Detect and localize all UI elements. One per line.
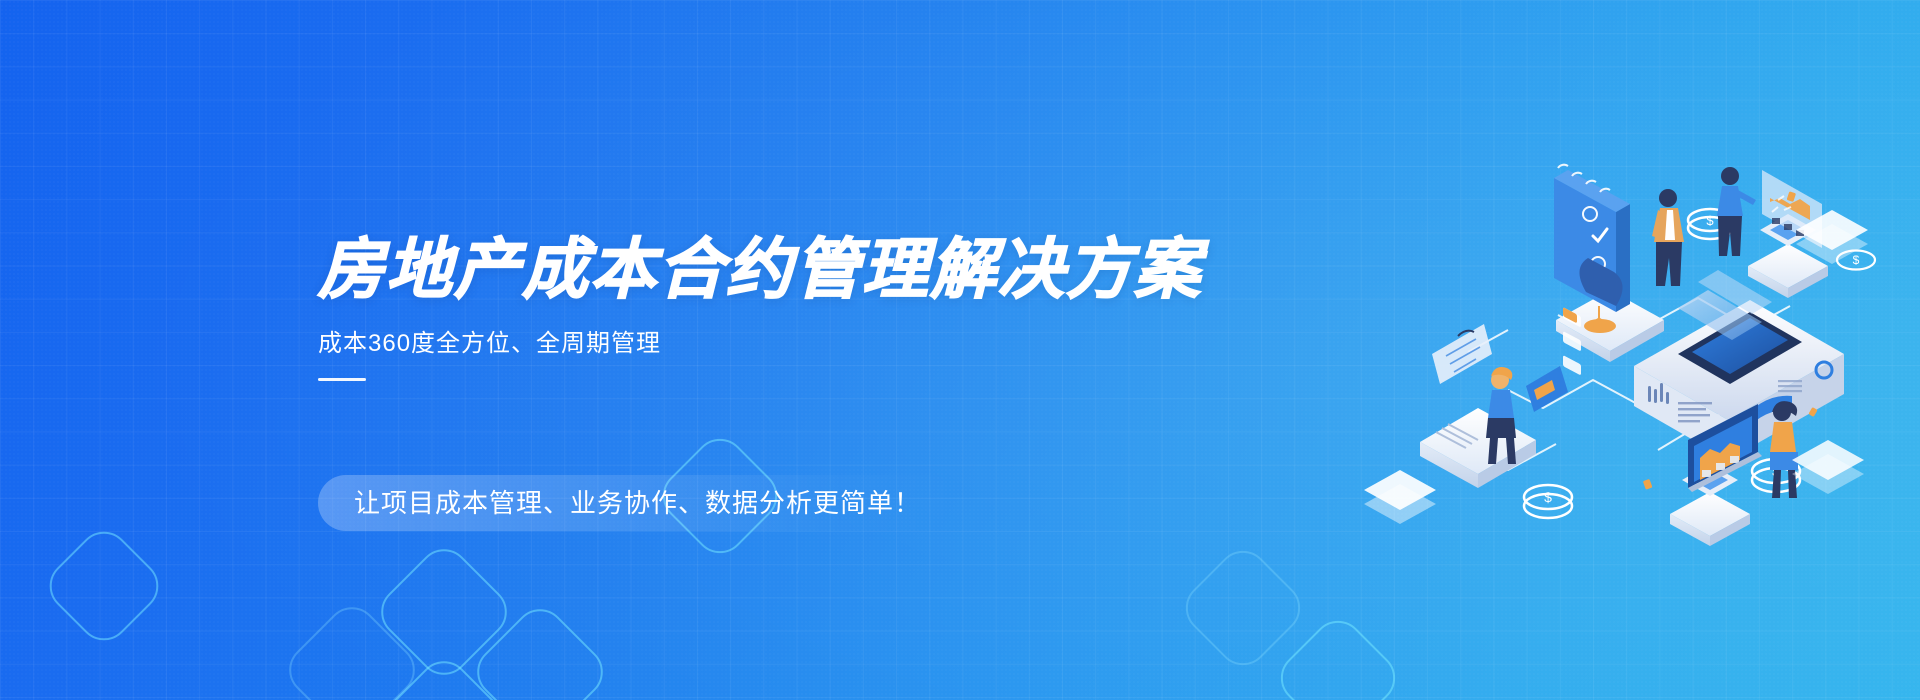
diamond-shape bbox=[1270, 610, 1406, 700]
divider-rule bbox=[318, 378, 366, 381]
isometric-illustration: $ $ $ $ bbox=[1358, 140, 1878, 560]
diamond-shape bbox=[466, 598, 613, 700]
platform-tile bbox=[1364, 470, 1436, 524]
diamond-shape bbox=[370, 650, 517, 700]
diamond-shape bbox=[278, 596, 425, 700]
hero-banner: 房地产成本合约管理解决方案 成本360度全方位、全周期管理 让项目成本管理、业务… bbox=[0, 0, 1920, 700]
businessman-figure bbox=[1652, 189, 1684, 286]
tagline-pill: 让项目成本管理、业务协作、数据分析更简单！ bbox=[318, 475, 1018, 531]
hero-text-block: 房地产成本合约管理解决方案 成本360度全方位、全周期管理 让项目成本管理、业务… bbox=[318, 236, 1278, 381]
tagline-text: 让项目成本管理、业务协作、数据分析更简单！ bbox=[318, 490, 921, 516]
svg-text:$: $ bbox=[1544, 489, 1552, 505]
platform-tile bbox=[1420, 408, 1536, 488]
hero-subtitle: 成本360度全方位、全周期管理 bbox=[318, 332, 1278, 356]
diamond-shape bbox=[1175, 540, 1311, 676]
svg-text:$: $ bbox=[1853, 253, 1860, 267]
document-card bbox=[1432, 324, 1492, 384]
diamond-shape bbox=[370, 538, 517, 685]
page-title: 房地产成本合约管理解决方案 bbox=[318, 236, 1278, 302]
diamond-shape bbox=[39, 521, 169, 651]
platform-tile bbox=[1792, 440, 1864, 494]
svg-text:$: $ bbox=[1706, 213, 1714, 228]
coin-stack: $ bbox=[1524, 485, 1572, 518]
businessman-figure bbox=[1717, 167, 1756, 256]
